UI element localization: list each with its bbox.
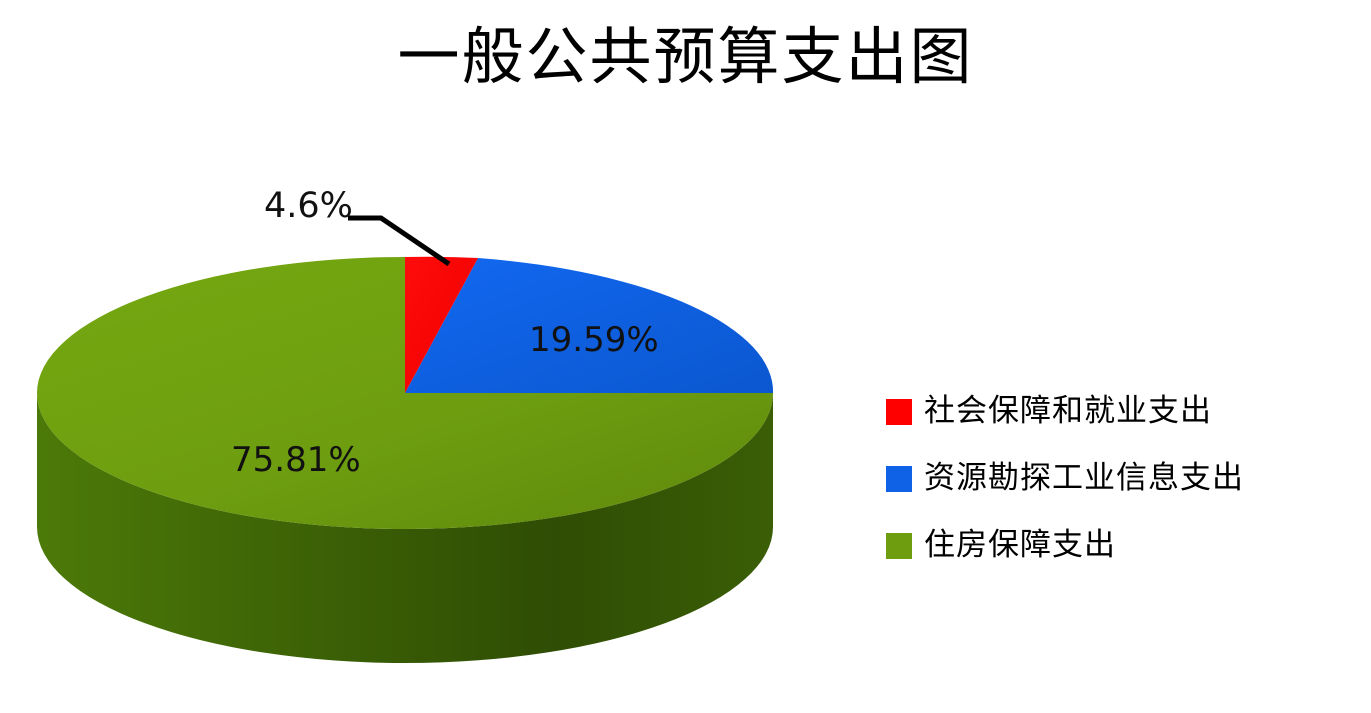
legend: 社会保障和就业支出 资源勘探工业信息支出 住房保障支出 [886, 378, 1336, 579]
legend-item-housing-security[interactable]: 住房保障支出 [886, 512, 1336, 579]
pie-chart-graphic [0, 0, 1371, 713]
legend-swatch-icon-blue [886, 466, 912, 492]
legend-item-resource-exploration[interactable]: 资源勘探工业信息支出 [886, 445, 1336, 512]
slice-value-label-blue: 19.59% [529, 320, 659, 360]
slice-value-label-green: 75.81% [231, 440, 361, 480]
slice-value-label-red: 4.6% [264, 186, 353, 226]
legend-swatch-icon-red [886, 399, 912, 425]
legend-item-label: 资源勘探工业信息支出 [924, 463, 1244, 494]
legend-item-label: 住房保障支出 [924, 530, 1116, 561]
legend-swatch-icon-green [886, 533, 912, 559]
legend-item-label: 社会保障和就业支出 [924, 396, 1212, 427]
legend-item-social-security[interactable]: 社会保障和就业支出 [886, 378, 1336, 445]
pie-chart-figure: 一般公共预算支出图 [0, 0, 1371, 713]
